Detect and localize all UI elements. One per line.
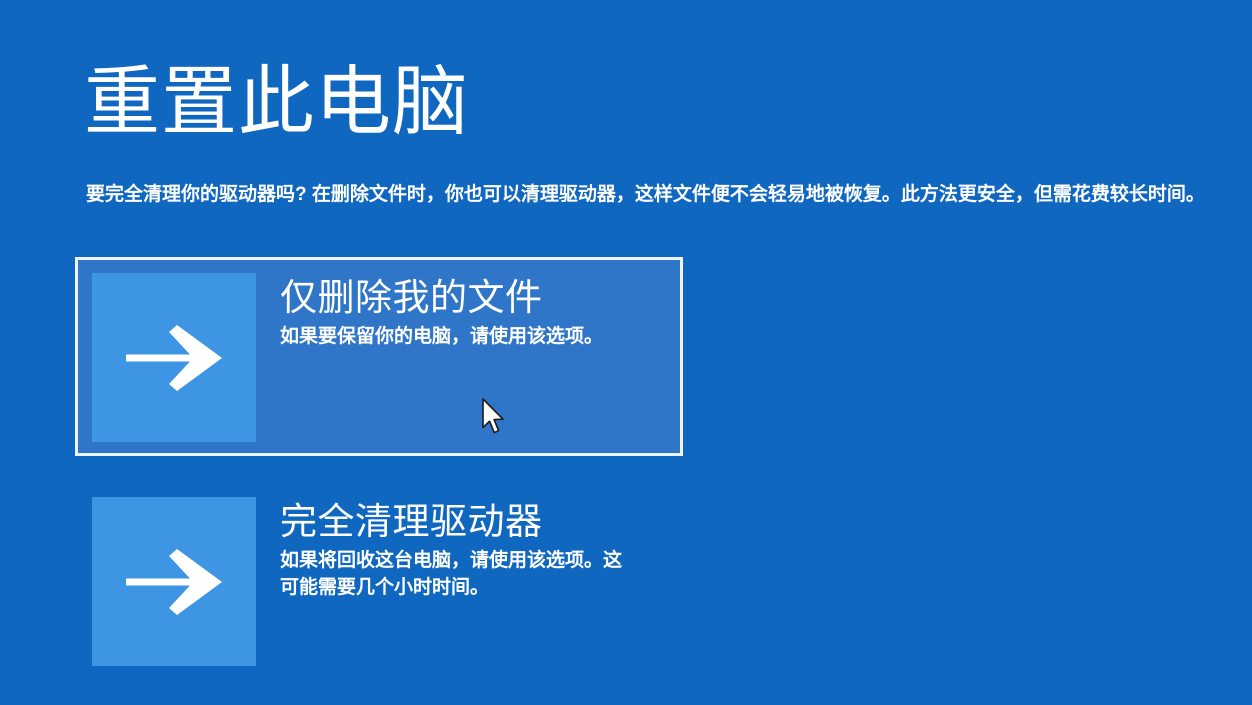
option-description: 如果将回收这台电脑，请使用该选项。这可能需要几个小时时间。 <box>280 547 625 601</box>
option-text-block: 仅删除我的文件 如果要保留你的电脑，请使用该选项。 <box>256 273 680 350</box>
option-list: 仅删除我的文件 如果要保留你的电脑，请使用该选项。 完全清理驱动器 如果将回收这… <box>75 257 683 705</box>
option-title: 完全清理驱动器 <box>280 499 680 545</box>
reset-pc-screen: 重置此电脑 要完全清理你的驱动器吗? 在删除文件时，你也可以清理驱动器，这样文件… <box>0 0 1252 663</box>
option-title: 仅删除我的文件 <box>280 275 680 321</box>
arrow-right-icon <box>92 273 256 442</box>
option-delete-files-only[interactable]: 仅删除我的文件 如果要保留你的电脑，请使用该选项。 <box>75 257 683 456</box>
arrow-right-icon <box>92 497 256 666</box>
option-text-block: 完全清理驱动器 如果将回收这台电脑，请使用该选项。这可能需要几个小时时间。 <box>256 497 680 601</box>
page-title: 重置此电脑 <box>84 59 469 146</box>
option-description: 如果要保留你的电脑，请使用该选项。 <box>280 323 625 350</box>
intro-paragraph: 要完全清理你的驱动器吗? 在删除文件时，你也可以清理驱动器，这样文件便不会轻易地… <box>86 179 1234 211</box>
option-fully-clean-drive[interactable]: 完全清理驱动器 如果将回收这台电脑，请使用该选项。这可能需要几个小时时间。 <box>75 481 683 680</box>
